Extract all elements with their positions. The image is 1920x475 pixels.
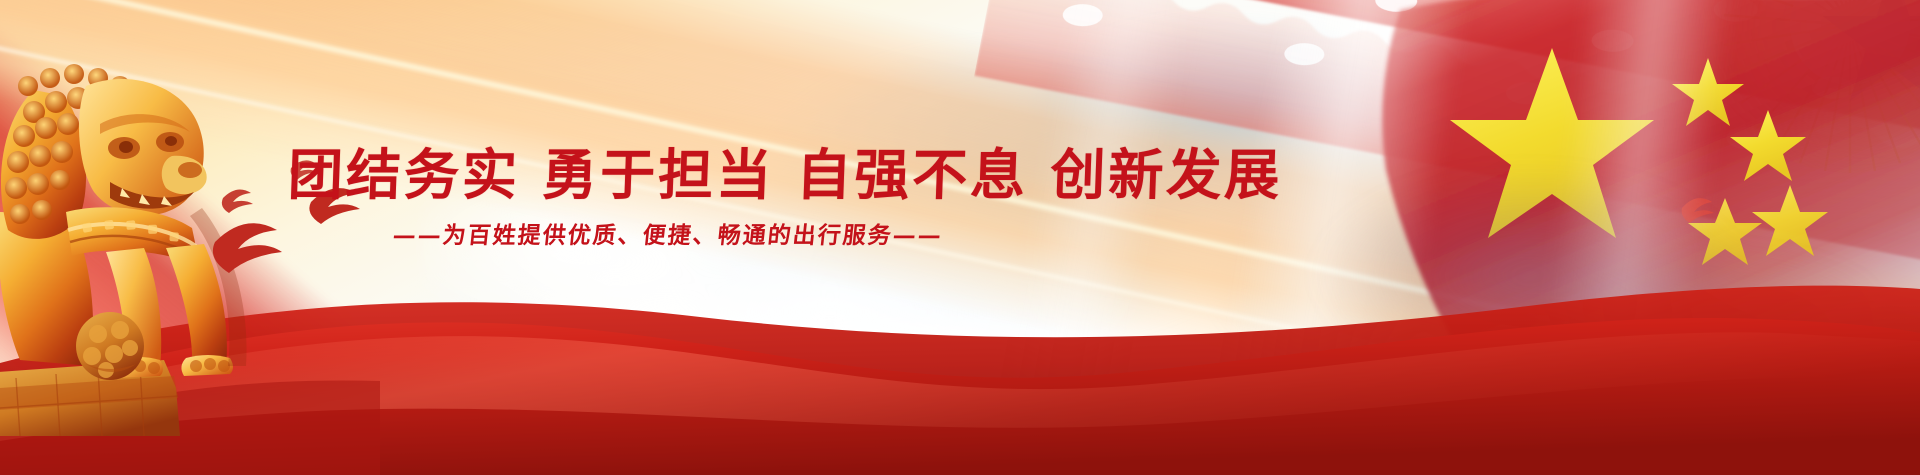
slogan-text-block: 团结务实 勇于担当 自强不息 创新发展 ——为百姓提供优质、便捷、畅通的出行服务… bbox=[288, 146, 1048, 250]
subtitle: ——为百姓提供优质、便捷、畅通的出行服务—— bbox=[286, 216, 1050, 250]
page-title: 团结务实 勇于担当 自强不息 创新发展 bbox=[287, 146, 1049, 204]
promotional-banner: 团结务实 勇于担当 自强不息 创新发展 ——为百姓提供优质、便捷、畅通的出行服务… bbox=[0, 0, 1920, 475]
